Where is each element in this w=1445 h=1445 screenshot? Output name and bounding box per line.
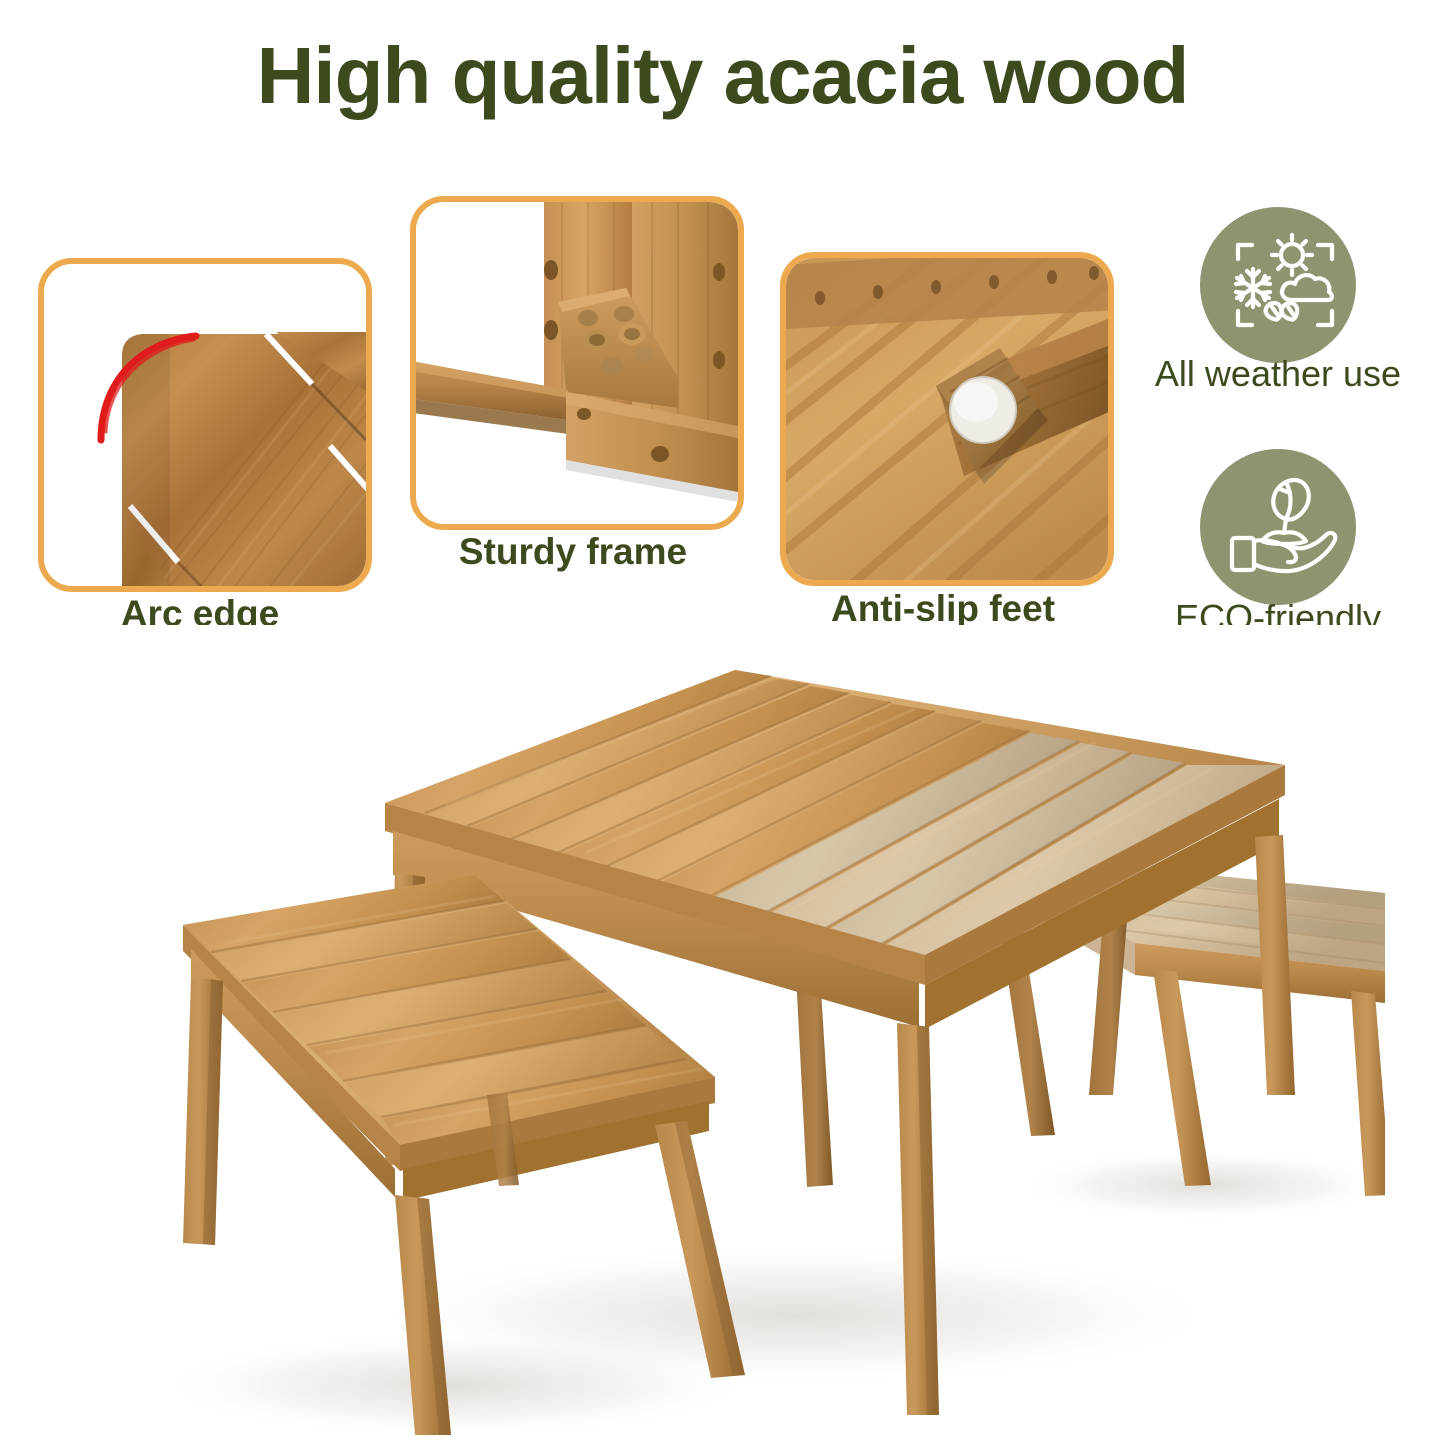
sturdy-frame-photo	[416, 202, 738, 524]
feature-panel-anti-slip-feet	[780, 252, 1114, 586]
feature-panel-arc-edge	[38, 258, 372, 592]
hero-product-image	[95, 625, 1385, 1435]
feature-caption-sturdy-frame: Sturdy frame	[408, 533, 738, 570]
feature-panel-sturdy-frame	[410, 196, 744, 530]
arc-edge-photo	[44, 264, 366, 586]
eco-friendly-icon	[1200, 449, 1356, 605]
feature-caption-anti-slip-feet: Anti-slip feet	[778, 590, 1108, 627]
page-title: High quality acacia wood	[0, 34, 1445, 118]
all-weather-icon	[1200, 207, 1356, 363]
anti-slip-feet-photo	[786, 258, 1108, 580]
arc-edge-red-marker	[101, 336, 196, 440]
all-weather-label: All weather use	[1118, 356, 1438, 392]
infographic-canvas: High quality acacia wood	[0, 0, 1445, 1445]
